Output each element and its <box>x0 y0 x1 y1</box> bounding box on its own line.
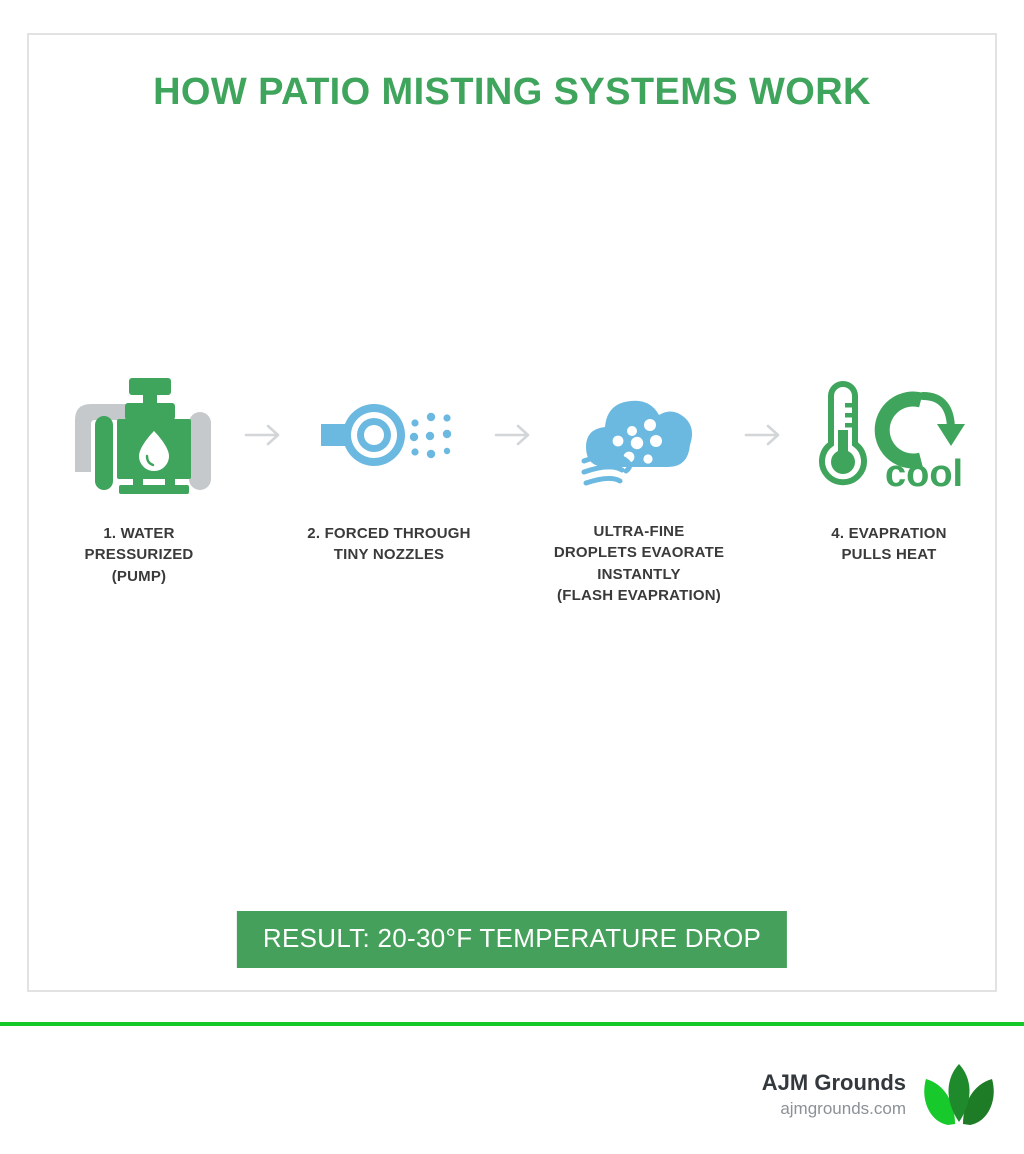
label-line: (FLASH EVAPRATION) <box>554 585 724 606</box>
infographic-page: HOW PATIO MISTING SYSTEMS WORK <box>0 0 1024 1154</box>
flow-step-4: cool 4. EVAPRATION PULLS HEAT <box>799 375 979 566</box>
infographic-card: HOW PATIO MISTING SYSTEMS WORK <box>27 33 997 992</box>
label-line: (PUMP) <box>85 566 194 587</box>
label-line: INSTANTLY <box>554 564 724 585</box>
flow-step-4-label: 4. EVAPRATION PULLS HEAT <box>831 523 946 566</box>
footer-branding: AJM Grounds ajmgrounds.com <box>762 1062 996 1128</box>
flow-step-2: 2. FORCED THROUGH TINY NOZZLES <box>299 375 479 566</box>
water-pump-icon-box <box>63 375 215 495</box>
process-flow: 1. WATER PRESSURIZED (PUMP) <box>49 375 979 606</box>
arrow-right-icon-3 <box>736 375 792 495</box>
label-line: 4. EVAPRATION <box>831 523 946 544</box>
cool-thermometer-icon-box: cool <box>805 375 973 495</box>
three-leaf-logo-icon <box>922 1062 996 1128</box>
brand-name: AJM Grounds <box>762 1070 906 1095</box>
water-pump-icon <box>63 376 215 494</box>
flow-step-1: 1. WATER PRESSURIZED (PUMP) <box>49 375 229 587</box>
footer-text-block: AJM Grounds ajmgrounds.com <box>762 1070 906 1119</box>
cool-thermometer-icon: cool <box>805 378 973 492</box>
label-line: TINY NOZZLES <box>307 544 470 565</box>
arrow-right-icon <box>244 422 284 448</box>
mist-cloud-icon-box <box>576 375 702 495</box>
label-line: PULLS HEAT <box>831 544 946 565</box>
cool-icon-text: cool <box>885 453 963 492</box>
label-line: 2. FORCED THROUGH <box>307 523 470 544</box>
flow-step-3-label: ULTRA-FINE DROPLETS EVAORATE INSTANTLY (… <box>554 521 724 606</box>
flow-step-3: ULTRA-FINE DROPLETS EVAORATE INSTANTLY (… <box>549 375 729 606</box>
arrow-right-icon-1 <box>236 375 292 495</box>
misting-nozzle-icon-box <box>319 375 459 495</box>
arrow-right-icon <box>494 422 534 448</box>
result-banner: RESULT: 20-30°F TEMPERATURE DROP <box>237 911 787 968</box>
mist-cloud-icon <box>576 379 702 491</box>
arrow-right-icon-2 <box>486 375 542 495</box>
misting-nozzle-icon <box>319 392 459 478</box>
flow-step-2-label: 2. FORCED THROUGH TINY NOZZLES <box>307 523 470 566</box>
label-line: PRESSURIZED <box>85 544 194 565</box>
label-line: 1. WATER <box>85 523 194 544</box>
page-title: HOW PATIO MISTING SYSTEMS WORK <box>29 71 995 114</box>
label-line: ULTRA-FINE <box>554 521 724 542</box>
flow-step-1-label: 1. WATER PRESSURIZED (PUMP) <box>85 523 194 587</box>
label-line: DROPLETS EVAORATE <box>554 542 724 563</box>
arrow-right-icon <box>744 422 784 448</box>
brand-url: ajmgrounds.com <box>762 1098 906 1120</box>
footer: AJM Grounds ajmgrounds.com <box>0 1026 1024 1154</box>
